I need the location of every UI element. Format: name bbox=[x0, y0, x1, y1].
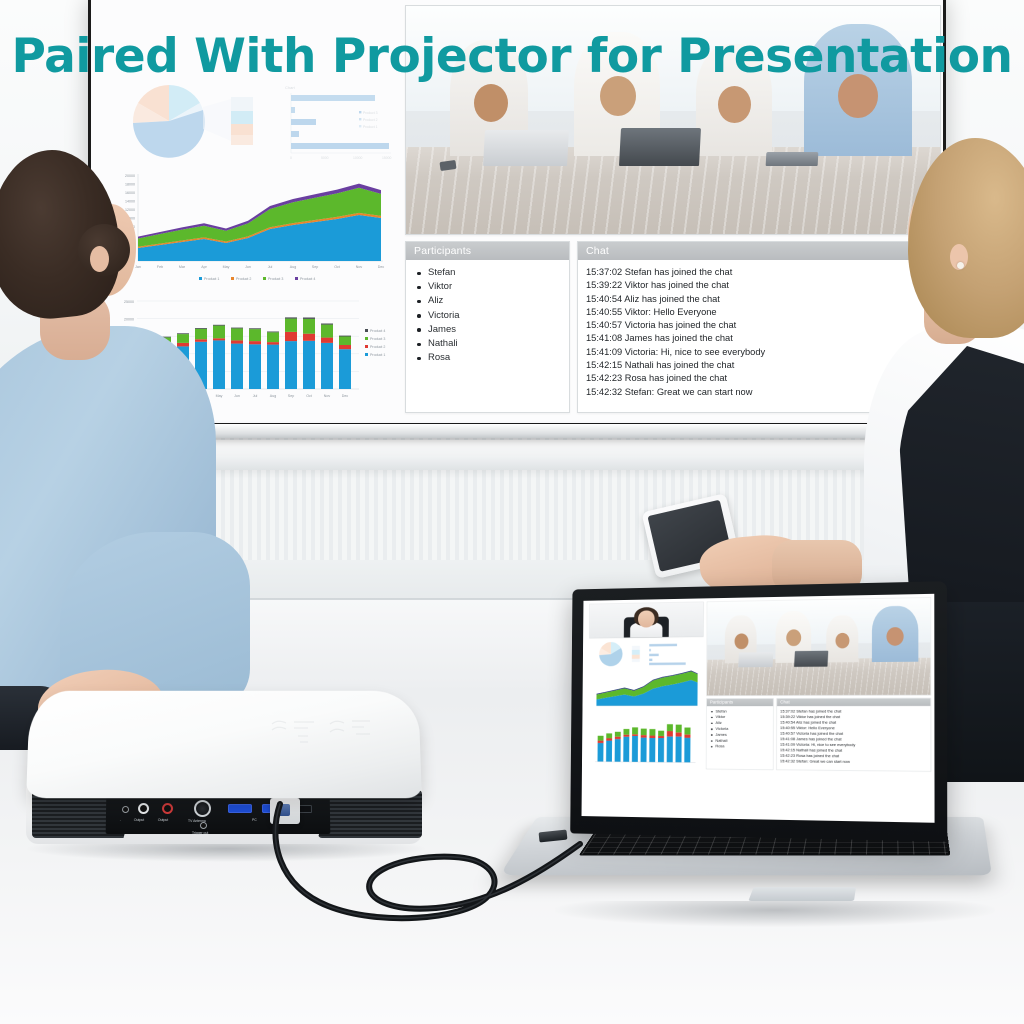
svg-text:Product 2: Product 2 bbox=[370, 345, 385, 349]
mirrored-pie-chart-panel bbox=[589, 638, 703, 668]
mirrored-meeting-video bbox=[707, 598, 931, 696]
svg-text:Dec: Dec bbox=[378, 265, 385, 269]
svg-text:Jun: Jun bbox=[234, 394, 240, 398]
svg-text:5000: 5000 bbox=[321, 156, 329, 160]
laptop-shadow bbox=[555, 901, 995, 927]
list-item: Nathali bbox=[414, 337, 561, 351]
video-laptop-1 bbox=[483, 130, 569, 166]
mirrored-video-laptop-2 bbox=[794, 651, 828, 667]
svg-text:Dec: Dec bbox=[342, 394, 349, 398]
svg-text:Nov: Nov bbox=[324, 394, 331, 398]
laptop-lid: Participants Stefan Viktor Aliz Victoria… bbox=[570, 581, 947, 842]
svg-text:Sep: Sep bbox=[288, 394, 294, 398]
mirrored-participants-list: Stefan Viktor Aliz Victoria James Nathal… bbox=[710, 709, 770, 750]
mirrored-chat-title: Chat bbox=[777, 698, 931, 706]
mirrored-chat-panel: Chat 15:37:02 Stefan has joined the chat… bbox=[776, 698, 931, 772]
list-item: Aliz bbox=[414, 294, 561, 308]
chat-message: 15:41:08 James has joined the chat bbox=[586, 332, 932, 345]
mirrored-area-chart-panel bbox=[589, 669, 704, 714]
audio-in-jack[interactable] bbox=[162, 803, 173, 814]
scene-root: Chart 0 5000 10000 bbox=[0, 0, 1024, 1024]
attendee-right-earring bbox=[957, 262, 964, 269]
mirrored-video-panel bbox=[706, 597, 931, 696]
chat-message: 15:40:55 Viktor: Hello Everyone bbox=[586, 306, 932, 319]
self-view-panel bbox=[589, 602, 703, 639]
svg-text:Aug: Aug bbox=[270, 394, 276, 398]
video-attendee-3-head bbox=[718, 86, 751, 123]
svg-text:Product 1: Product 1 bbox=[370, 353, 385, 357]
svg-text:Product 2: Product 2 bbox=[363, 118, 378, 122]
video-tablet bbox=[766, 152, 819, 166]
mirrored-participants-panel: Participants Stefan Viktor Aliz Victoria… bbox=[706, 698, 774, 770]
list-item: Victoria bbox=[414, 309, 561, 323]
self-view-face bbox=[638, 610, 655, 627]
video-laptop-2 bbox=[619, 128, 701, 166]
svg-text:Sep: Sep bbox=[312, 265, 318, 269]
mirrored-chat-list: 15:37:02 Stefan has joined the chat 15:3… bbox=[780, 709, 927, 766]
hdmi-cable bbox=[250, 800, 610, 940]
mirrored-pie-chart bbox=[589, 638, 703, 668]
svg-text:Product 3: Product 3 bbox=[363, 111, 378, 115]
mirrored-slide: Participants Stefan Viktor Aliz Victoria… bbox=[582, 594, 935, 779]
trigger-out-jack[interactable] bbox=[200, 822, 207, 829]
mirrored-column-chart bbox=[588, 716, 703, 769]
svg-text:Oct: Oct bbox=[306, 394, 312, 398]
av-antenna-connector[interactable] bbox=[194, 800, 211, 817]
list-item: Stefan bbox=[414, 266, 561, 280]
mirrored-attendee-3-head bbox=[835, 633, 849, 649]
audio-out-jack[interactable] bbox=[138, 803, 149, 814]
svg-text:Aug: Aug bbox=[290, 265, 296, 269]
video-attendee-1-head bbox=[474, 84, 508, 122]
participants-body: Stefan Viktor Aliz Victoria James Nathal… bbox=[406, 260, 569, 371]
mirrored-attendee-4-head bbox=[886, 627, 903, 646]
list-item: Rosa bbox=[710, 744, 770, 750]
participants-panel: Participants Stefan Viktor Aliz Victoria… bbox=[405, 241, 570, 413]
svg-text:Product 3: Product 3 bbox=[268, 277, 283, 281]
chat-message: 15:40:54 Aliz has joined the chat bbox=[586, 293, 932, 306]
vga-port-1[interactable] bbox=[228, 804, 252, 813]
attendee-left bbox=[0, 150, 212, 750]
silver-laptop[interactable]: Participants Stefan Viktor Aliz Victoria… bbox=[555, 585, 995, 930]
svg-text:Jul: Jul bbox=[253, 394, 258, 398]
mirrored-participants-body: Stefan Viktor Aliz Victoria James Nathal… bbox=[706, 706, 773, 752]
chat-message: 15:42:32 Stefan: Great we can start now bbox=[780, 759, 927, 766]
chat-message: 15:40:57 Victoria has joined the chat bbox=[586, 319, 932, 332]
svg-text:Product 4: Product 4 bbox=[370, 329, 385, 333]
svg-text:Product 4: Product 4 bbox=[300, 277, 315, 281]
svg-text:Nov: Nov bbox=[356, 265, 363, 269]
chat-message: 15:37:02 Stefan has joined the chat bbox=[586, 266, 932, 279]
list-item: James bbox=[414, 323, 561, 337]
list-item: Rosa bbox=[414, 351, 561, 365]
svg-text:10000: 10000 bbox=[353, 156, 363, 160]
svg-text:Jun: Jun bbox=[245, 265, 251, 269]
svg-text:Product 2: Product 2 bbox=[236, 277, 251, 281]
svg-text:Product 1: Product 1 bbox=[363, 125, 378, 129]
mirrored-column-chart-panel bbox=[588, 716, 703, 769]
mirrored-participants-title: Participants bbox=[707, 699, 774, 707]
svg-text:May: May bbox=[216, 394, 223, 398]
mirrored-chat-body: 15:37:02 Stefan has joined the chat 15:3… bbox=[777, 706, 931, 768]
list-item: Viktor bbox=[414, 280, 561, 294]
projector-brand-logo bbox=[268, 716, 378, 750]
participants-list: Stefan Viktor Aliz Victoria James Nathal… bbox=[414, 266, 561, 365]
chat-message: 15:42:15 Nathali has joined the chat bbox=[586, 359, 932, 372]
power-indicator-icon bbox=[122, 806, 129, 813]
svg-text:Oct: Oct bbox=[334, 265, 340, 269]
attendee-left-ear bbox=[90, 246, 109, 272]
laptop-trackpad[interactable] bbox=[748, 887, 856, 901]
mirrored-video-laptop-1 bbox=[738, 652, 773, 667]
chat-message: 15:39:22 Viktor has joined the chat bbox=[586, 279, 932, 292]
svg-text:0: 0 bbox=[290, 156, 292, 160]
page-title: Paired With Projector for Presentation bbox=[0, 27, 1024, 87]
mirrored-presentation-slide: Participants Stefan Viktor Aliz Victoria… bbox=[585, 597, 931, 775]
laptop-screen: Participants Stefan Viktor Aliz Victoria… bbox=[582, 594, 935, 823]
chat-title: Chat bbox=[578, 242, 940, 260]
chat-message: 15:41:09 Victoria: Hi, nice to see every… bbox=[586, 346, 932, 359]
svg-text:Product 3: Product 3 bbox=[370, 337, 385, 341]
attendee-right-hair bbox=[908, 138, 1024, 338]
svg-text:May: May bbox=[223, 265, 230, 269]
svg-text:15000: 15000 bbox=[382, 156, 392, 160]
svg-text:Jul: Jul bbox=[268, 265, 273, 269]
participants-title: Participants bbox=[406, 242, 569, 260]
mirrored-area-chart bbox=[589, 669, 704, 714]
